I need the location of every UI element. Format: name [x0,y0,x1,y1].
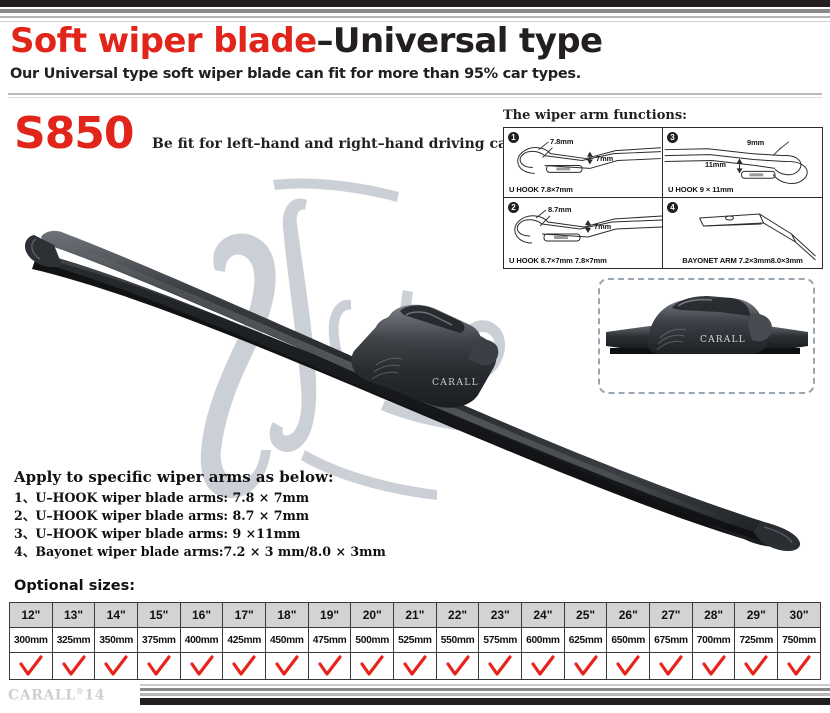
function-cell-3-callout-b: 11mm [705,160,726,169]
size-availability-cell [479,653,522,680]
sizes-row-availability [10,653,821,680]
connector-lever-highlight [406,312,452,325]
size-mm-cell: 700mm [692,628,735,653]
sizes-row-millimetres: 300mm325mm350mm375mm400mm425mm450mm475mm… [10,628,821,653]
size-inch-cell: 23" [479,603,522,628]
function-cell-3-number: 3 [667,132,678,143]
function-cell-4-caption: BAYONET ARM 7.2×3mm8.0×3mm [663,256,822,265]
size-inch-cell: 29" [735,603,778,628]
function-cell-3-caption: U HOOK 9 × 11mm [668,185,733,194]
top-border-bars [0,0,830,22]
function-cell-3-callout-a: 9mm [747,138,764,147]
checkmark-icon [351,653,393,679]
size-mm-cell: 425mm [223,628,266,653]
apply-item-2: 2、U–HOOK wiper blade arms: 8.7 × 7mm [14,507,386,525]
product-datasheet-page: Soft wiper blade–Universal type Our Univ… [0,0,830,713]
size-availability-cell [10,653,53,680]
blade-right-endcap-highlight [764,527,792,543]
footer-year: 14 [84,688,105,704]
size-availability-cell [52,653,95,680]
size-inch-cell: 12" [10,603,53,628]
size-inch-cell: 22" [436,603,479,628]
checkmark-icon [309,653,351,679]
size-mm-cell: 325mm [52,628,95,653]
apply-to-arms-block: Apply to specific wiper arms as below: 1… [14,468,386,561]
function-cell-2-number: 2 [508,202,519,213]
apply-item-4: 4、Bayonet wiper blade arms:7.2 × 3 mm/8.… [14,543,386,561]
function-cell-1-number: 1 [508,132,519,143]
function-cell-3: 3 [663,128,822,198]
size-mm-cell: 450mm [266,628,309,653]
page-title: Soft wiper blade–Universal type [10,24,820,60]
footer-brand-name: CARALL [8,688,76,704]
size-mm-cell: 625mm [564,628,607,653]
model-code: S850 [14,112,134,156]
size-availability-cell [735,653,778,680]
size-mm-cell: 550mm [436,628,479,653]
size-inch-cell: 18" [266,603,309,628]
page-header: Soft wiper blade–Universal type Our Univ… [10,24,820,82]
optional-sizes-title: Optional sizes: [14,578,135,594]
size-inch-cell: 15" [138,603,181,628]
size-mm-cell: 675mm [650,628,693,653]
functions-grid: 1 [503,127,823,269]
checkmark-icon [95,653,137,679]
wiper-arm-functions-panel: The wiper arm functions: 1 [503,108,823,269]
connector-detail-inset: CARALL [598,278,815,394]
size-inch-cell: 13" [52,603,95,628]
blade-right-endcap [754,521,800,551]
checkmark-icon [735,653,777,679]
size-availability-cell [650,653,693,680]
function-cell-1-callout-a: 7.8mm [550,137,573,146]
size-mm-cell: 725mm [735,628,778,653]
footer-bar-dark [140,698,830,705]
checkmark-icon [223,653,265,679]
size-mm-cell: 575mm [479,628,522,653]
function-cell-2-callout-a: 8.7mm [548,205,571,214]
size-mm-cell: 650mm [607,628,650,653]
size-availability-cell [778,653,821,680]
top-bar-dark [0,0,830,7]
inset-brand-text: CARALL [700,335,746,345]
size-availability-cell [308,653,351,680]
inset-side-tab [748,314,772,342]
size-mm-cell: 375mm [138,628,181,653]
footer-brand: CARALL®14 [8,686,105,704]
checkmark-icon [693,653,735,679]
checkmark-icon [778,653,820,679]
page-footer: CARALL®14 [0,684,830,713]
checkmark-icon [479,653,521,679]
checkmark-icon [138,653,180,679]
size-inch-cell: 14" [95,603,138,628]
header-divider [0,93,830,98]
apply-item-3: 3、U–HOOK wiper blade arms: 9 ×11mm [14,525,386,543]
size-availability-cell [436,653,479,680]
optional-sizes-table: 12"13"14"15"16"17"18"19"20"21"22"23"24"2… [9,602,821,680]
size-availability-cell [522,653,565,680]
size-inch-cell: 17" [223,603,266,628]
size-inch-cell: 28" [692,603,735,628]
size-mm-cell: 350mm [95,628,138,653]
size-availability-cell [223,653,266,680]
size-mm-cell: 400mm [180,628,223,653]
blade-left-tip-highlight [32,239,40,259]
size-inch-cell: 27" [650,603,693,628]
size-availability-cell [138,653,181,680]
size-availability-cell [607,653,650,680]
checkmark-icon [266,653,308,679]
checkmark-icon [607,653,649,679]
size-availability-cell [266,653,309,680]
size-availability-cell [95,653,138,680]
size-availability-cell [351,653,394,680]
function-cell-1-callout-b: 7mm [596,154,613,163]
blade-left-tip [25,235,62,267]
checkmark-icon [565,653,607,679]
checkmark-icon [181,653,223,679]
connector-side-tab [468,339,498,365]
size-mm-cell: 300mm [10,628,53,653]
size-inch-cell: 16" [180,603,223,628]
page-title-dark: –Universal type [317,21,603,61]
size-availability-cell [394,653,437,680]
header-divider-thin [8,97,822,98]
function-cell-1-caption: U HOOK 7.8×7mm [509,185,573,194]
size-availability-cell [564,653,607,680]
function-cell-2: 2 [504,198,663,268]
size-mm-cell: 500mm [351,628,394,653]
size-inch-cell: 25" [564,603,607,628]
size-availability-cell [692,653,735,680]
checkmark-icon [437,653,479,679]
size-inch-cell: 20" [351,603,394,628]
model-tagline: Be fit for left–hand and right–hand driv… [152,136,514,152]
size-availability-cell [180,653,223,680]
size-mm-cell: 600mm [522,628,565,653]
page-title-red: Soft wiper blade [10,21,317,61]
function-cell-4: 4 BAYONET ARM 7.2×3mm8.0×3mm [663,198,822,268]
header-divider-thick [8,93,822,95]
blade-connector-assembly: CARALL [351,305,498,408]
size-mm-cell: 750mm [778,628,821,653]
function-cell-4-number: 4 [667,202,678,213]
checkmark-icon [53,653,95,679]
model-block: S850 Be fit for left–hand and right–hand… [14,112,514,156]
size-inch-cell: 30" [778,603,821,628]
footer-bars [140,684,830,705]
checkmark-icon [10,653,52,679]
checkmark-icon [650,653,692,679]
functions-panel-title: The wiper arm functions: [503,108,823,123]
function-cell-1: 1 [504,128,663,198]
size-inch-cell: 24" [522,603,565,628]
sizes-row-inches: 12"13"14"15"16"17"18"19"20"21"22"23"24"2… [10,603,821,628]
connector-detail-illustration: CARALL [600,280,813,392]
connector-grip-ribs [372,358,402,379]
apply-title: Apply to specific wiper arms as below: [14,468,386,486]
function-cell-2-caption: U HOOK 8.7×7mm 7.8×7mm [509,256,607,265]
size-inch-cell: 26" [607,603,650,628]
function-cell-2-callout-b: 7mm [594,222,611,231]
connector-lever-slot [400,305,465,333]
apply-item-1: 1、U–HOOK wiper blade arms: 7.8 × 7mm [14,489,386,507]
page-subtitle: Our Universal type soft wiper blade can … [10,66,820,82]
checkmark-icon [394,653,436,679]
size-mm-cell: 525mm [394,628,437,653]
size-inch-cell: 19" [308,603,351,628]
size-inch-cell: 21" [394,603,437,628]
size-mm-cell: 475mm [308,628,351,653]
connector-brand-text: CARALL [432,378,479,388]
checkmark-icon [522,653,564,679]
